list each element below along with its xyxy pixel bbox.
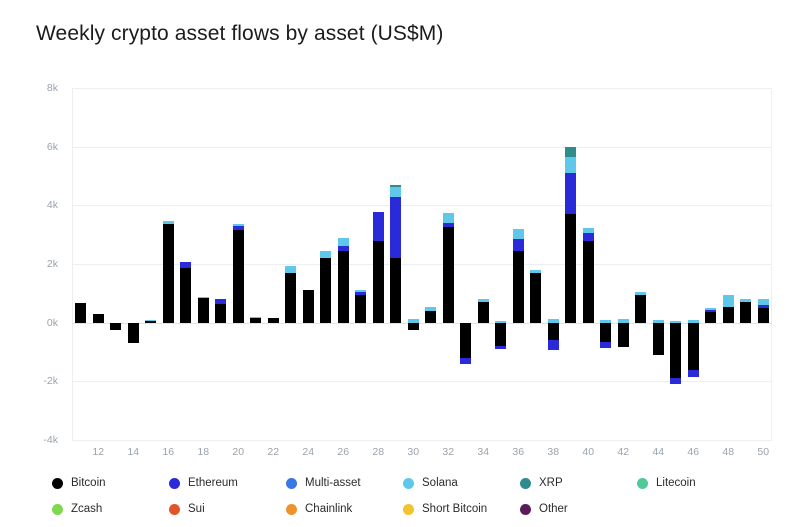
bar-segment	[93, 314, 104, 323]
bar-segment	[443, 223, 454, 227]
bar-column[interactable]	[303, 88, 314, 440]
bar-segment	[740, 302, 751, 323]
bar-segment	[478, 302, 489, 323]
chart-title: Weekly crypto asset flows by asset (US$M…	[36, 22, 444, 46]
y-axis-tick-label: -2k	[18, 375, 58, 387]
bar-column[interactable]	[285, 88, 296, 440]
x-axis-tick-label: 38	[547, 446, 559, 458]
y-axis-tick-label: 6k	[18, 141, 58, 153]
bar-column[interactable]	[670, 88, 681, 440]
legend-swatch-icon	[169, 504, 180, 515]
bar-segment	[635, 292, 646, 295]
legend-label: Ethereum	[188, 477, 238, 489]
x-axis-tick-label: 50	[757, 446, 769, 458]
bar-segment	[443, 227, 454, 322]
bar-segment	[233, 230, 244, 322]
legend-label: Solana	[422, 477, 458, 489]
legend-item[interactable]: Sui	[169, 496, 286, 522]
legend-label: Bitcoin	[71, 477, 106, 489]
x-axis-tick-label: 48	[722, 446, 734, 458]
bar-column[interactable]	[355, 88, 366, 440]
bar-segment	[425, 311, 436, 323]
bar-segment	[250, 318, 261, 323]
bar-column[interactable]	[723, 88, 734, 440]
bar-segment	[670, 323, 681, 379]
bar-segment	[495, 323, 506, 346]
bar-column[interactable]	[93, 88, 104, 440]
x-axis-tick-label: 32	[442, 446, 454, 458]
bar-segment	[670, 378, 681, 384]
y-axis-tick-label: 8k	[18, 82, 58, 94]
y-axis-tick-label: 0k	[18, 317, 58, 329]
legend-item[interactable]: Bitcoin	[52, 470, 169, 496]
bar-column[interactable]	[478, 88, 489, 440]
bar-segment	[460, 323, 471, 358]
bar-column[interactable]	[600, 88, 611, 440]
bar-column[interactable]	[233, 88, 244, 440]
bar-segment	[320, 258, 331, 323]
bar-segment	[723, 307, 734, 322]
bar-segment	[110, 323, 121, 331]
bar-segment	[565, 157, 576, 173]
bar-segment	[145, 321, 156, 323]
bar-segment	[373, 241, 384, 323]
legend-item[interactable]: Multi-asset	[286, 470, 403, 496]
bar-column[interactable]	[128, 88, 139, 440]
bar-segment	[285, 266, 296, 273]
bar-segment	[653, 323, 664, 355]
bar-segment	[740, 299, 751, 303]
bar-column[interactable]	[530, 88, 541, 440]
gridline	[72, 323, 772, 324]
bar-column[interactable]	[75, 88, 86, 440]
bar-segment	[705, 312, 716, 322]
bar-column[interactable]	[198, 88, 209, 440]
bar-column[interactable]	[320, 88, 331, 440]
x-axis-tick-label: 40	[582, 446, 594, 458]
bar-segment	[758, 308, 769, 323]
bar-column[interactable]	[425, 88, 436, 440]
bar-segment	[688, 370, 699, 377]
x-axis-tick-label: 20	[232, 446, 244, 458]
bar-column[interactable]	[180, 88, 191, 440]
bar-column[interactable]	[110, 88, 121, 440]
legend-item[interactable]: Chainlink	[286, 496, 403, 522]
x-axis-tick-label: 24	[302, 446, 314, 458]
legend-label: Litecoin	[656, 477, 696, 489]
bar-segment	[583, 228, 594, 233]
x-axis-tick-label: 44	[652, 446, 664, 458]
bar-column[interactable]	[635, 88, 646, 440]
bar-column[interactable]	[338, 88, 349, 440]
bar-segment	[338, 251, 349, 323]
legend-item[interactable]: Litecoin	[637, 470, 754, 496]
bar-column[interactable]	[250, 88, 261, 440]
bar-segment	[425, 307, 436, 311]
bar-column[interactable]	[688, 88, 699, 440]
bar-segment	[233, 224, 244, 226]
legend-swatch-icon	[403, 478, 414, 489]
bar-segment	[460, 358, 471, 364]
y-axis-tick-label: -4k	[18, 434, 58, 446]
bar-segment	[180, 262, 191, 268]
x-axis-tick-label: 30	[407, 446, 419, 458]
gridline	[72, 381, 772, 382]
bar-segment	[513, 239, 524, 251]
x-axis-tick-label: 28	[372, 446, 384, 458]
chart-container: Weekly crypto asset flows by asset (US$M…	[0, 0, 800, 527]
bar-segment	[128, 323, 139, 344]
bar-segment	[268, 318, 279, 322]
x-axis-tick-label: 22	[267, 446, 279, 458]
bar-segment	[75, 303, 86, 322]
bar-segment	[513, 251, 524, 323]
bar-segment	[635, 295, 646, 323]
bar-segment	[478, 299, 489, 303]
bar-column[interactable]	[145, 88, 156, 440]
legend-item[interactable]: XRP	[520, 470, 637, 496]
legend-swatch-icon	[52, 504, 63, 515]
bar-segment	[548, 340, 559, 350]
chart-legend: BitcoinEthereumMulti-assetSolanaXRPLitec…	[52, 470, 772, 522]
bar-segment	[233, 226, 244, 230]
legend-label: Multi-asset	[305, 477, 361, 489]
legend-swatch-icon	[52, 478, 63, 489]
bar-segment	[583, 233, 594, 241]
legend-label: Sui	[188, 503, 205, 515]
bar-column[interactable]	[495, 88, 506, 440]
bar-segment	[530, 270, 541, 273]
legend-label: Short Bitcoin	[422, 503, 487, 515]
legend-item[interactable]: Other	[520, 496, 637, 522]
legend-item[interactable]: Ethereum	[169, 470, 286, 496]
bar-segment	[215, 304, 226, 322]
bar-segment	[565, 214, 576, 323]
legend-item[interactable]: Solana	[403, 470, 520, 496]
bar-segment	[355, 292, 366, 295]
bar-column[interactable]	[705, 88, 716, 440]
bar-segment	[565, 147, 576, 158]
gridline	[72, 205, 772, 206]
bar-segment	[355, 295, 366, 322]
x-axis-tick-label: 18	[197, 446, 209, 458]
bar-column[interactable]	[443, 88, 454, 440]
bar-segment	[180, 268, 191, 323]
bar-segment	[285, 273, 296, 323]
gridline	[72, 88, 772, 89]
bar-segment	[548, 323, 559, 341]
bar-segment	[705, 310, 716, 312]
legend-label: Chainlink	[305, 503, 352, 515]
y-axis-tick-label: 4k	[18, 199, 58, 211]
bar-segment	[513, 229, 524, 239]
bar-column[interactable]	[460, 88, 471, 440]
bar-segment	[198, 297, 209, 298]
bar-column[interactable]	[758, 88, 769, 440]
bar-column[interactable]	[390, 88, 401, 440]
bar-column[interactable]	[163, 88, 174, 440]
legend-swatch-icon	[520, 504, 531, 515]
bar-column[interactable]	[618, 88, 629, 440]
x-axis-tick-label: 26	[337, 446, 349, 458]
bar-segment	[145, 320, 156, 321]
y-axis-tick-label: 2k	[18, 258, 58, 270]
bar-segment	[390, 258, 401, 323]
x-axis-tick-label: 16	[162, 446, 174, 458]
bar-segment	[215, 299, 226, 305]
bar-column[interactable]	[583, 88, 594, 440]
bar-column[interactable]	[513, 88, 524, 440]
bar-segment	[250, 317, 261, 318]
bar-segment	[600, 323, 611, 342]
legend-label: Other	[539, 503, 568, 515]
legend-label: Zcash	[71, 503, 102, 515]
bar-segment	[390, 185, 401, 187]
bar-segment	[198, 298, 209, 322]
bar-column[interactable]	[565, 88, 576, 440]
x-axis-tick-label: 12	[92, 446, 104, 458]
bar-segment	[705, 308, 716, 310]
bar-column[interactable]	[268, 88, 279, 440]
bar-segment	[390, 187, 401, 197]
bar-segment	[408, 323, 419, 330]
bar-segment	[320, 251, 331, 258]
bar-segment	[688, 323, 699, 370]
gridline	[72, 264, 772, 265]
legend-swatch-icon	[286, 504, 297, 515]
bar-segment	[618, 323, 629, 347]
bar-column[interactable]	[215, 88, 226, 440]
bar-segment	[338, 246, 349, 250]
gridline	[72, 147, 772, 148]
x-axis-tick-label: 46	[687, 446, 699, 458]
bar-column[interactable]	[373, 88, 384, 440]
bar-segment	[530, 273, 541, 323]
bar-segment	[163, 224, 174, 322]
bar-segment	[600, 342, 611, 348]
bar-segment	[163, 221, 174, 225]
x-axis-tick-label: 34	[477, 446, 489, 458]
legend-item[interactable]: Short Bitcoin	[403, 496, 520, 522]
x-axis-tick-label: 36	[512, 446, 524, 458]
bar-segment	[565, 173, 576, 213]
bar-segment	[390, 197, 401, 259]
legend-swatch-icon	[169, 478, 180, 489]
plot-area	[72, 88, 772, 440]
bar-segment	[443, 213, 454, 223]
bar-segment	[583, 241, 594, 323]
bar-column[interactable]	[408, 88, 419, 440]
bar-segment	[338, 238, 349, 247]
gridline	[72, 440, 772, 441]
bar-segment	[758, 299, 769, 305]
bar-segment	[723, 295, 734, 308]
legend-label: XRP	[539, 477, 563, 489]
legend-swatch-icon	[520, 478, 531, 489]
bar-segment	[758, 305, 769, 308]
bar-segment	[495, 346, 506, 350]
x-axis-tick-label: 42	[617, 446, 629, 458]
bar-column[interactable]	[653, 88, 664, 440]
legend-swatch-icon	[403, 504, 414, 515]
bar-segment	[355, 290, 366, 293]
bar-column[interactable]	[740, 88, 751, 440]
legend-swatch-icon	[637, 478, 648, 489]
bar-segment	[373, 212, 384, 241]
legend-swatch-icon	[286, 478, 297, 489]
legend-item[interactable]: Zcash	[52, 496, 169, 522]
bar-column[interactable]	[548, 88, 559, 440]
x-axis-tick-label: 14	[127, 446, 139, 458]
bar-segment	[303, 290, 314, 323]
